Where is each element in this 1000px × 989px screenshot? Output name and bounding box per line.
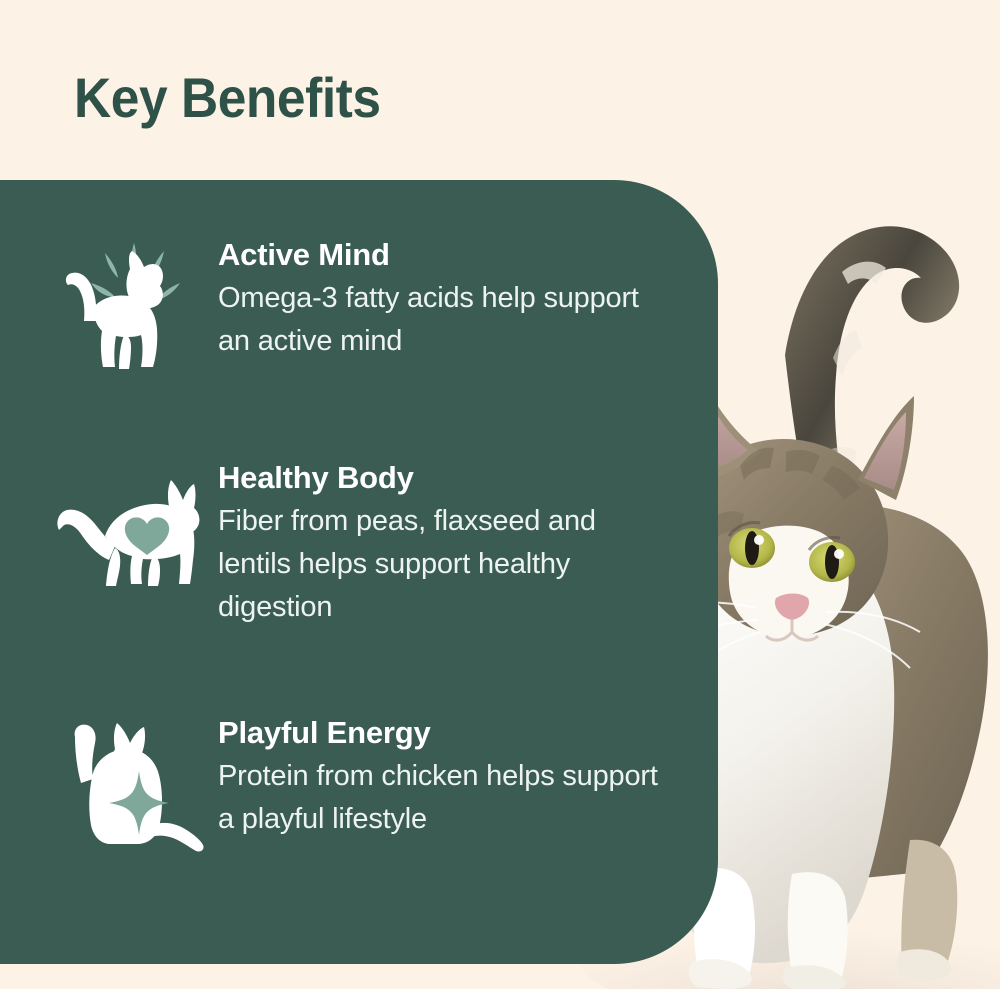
- benefit-title: Active Mind: [218, 235, 658, 275]
- cat-sparkle-head-icon: [48, 235, 218, 379]
- cat-heart-body-icon: [48, 458, 218, 592]
- cat-playful-star-icon: [48, 713, 218, 857]
- benefits-card: Active Mind Omega-3 fatty acids help sup…: [0, 180, 718, 964]
- key-benefits-panel: Key Benefits: [0, 0, 1000, 989]
- benefit-title: Playful Energy: [218, 713, 658, 753]
- benefit-item-healthy-body: Healthy Body Fiber from peas, flaxseed a…: [48, 458, 658, 629]
- benefit-description: Fiber from peas, flaxseed and lentils he…: [218, 500, 658, 629]
- benefit-title: Healthy Body: [218, 458, 658, 498]
- benefit-text-block: Healthy Body Fiber from peas, flaxseed a…: [218, 458, 658, 629]
- benefit-item-active-mind: Active Mind Omega-3 fatty acids help sup…: [48, 235, 658, 379]
- benefit-item-playful-energy: Playful Energy Protein from chicken help…: [48, 713, 658, 857]
- benefit-text-block: Playful Energy Protein from chicken help…: [218, 713, 658, 841]
- benefit-description: Protein from chicken helps support a pla…: [218, 755, 658, 841]
- benefit-text-block: Active Mind Omega-3 fatty acids help sup…: [218, 235, 658, 363]
- page-title: Key Benefits: [74, 66, 381, 130]
- benefit-description: Omega-3 fatty acids help support an acti…: [218, 277, 658, 363]
